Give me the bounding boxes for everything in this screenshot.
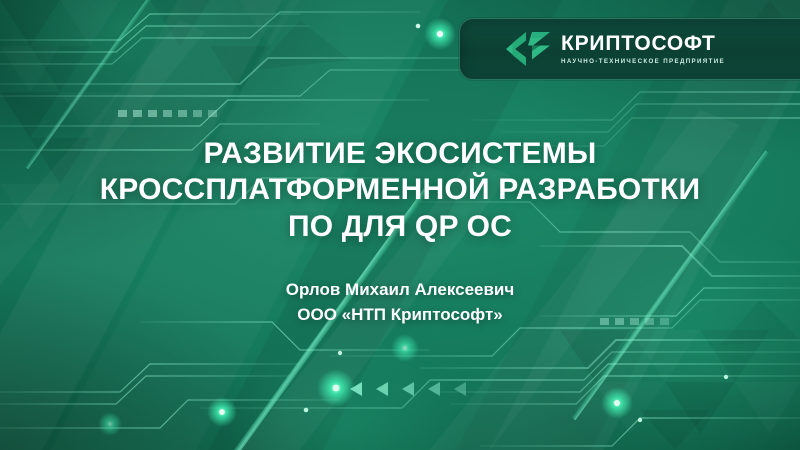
logo-tagline: НАУЧНО-ТЕХНИЧЕСКОЕ ПРЕДПРИЯТИЕ (561, 59, 725, 65)
logo-company-name: КРИПТОСОФТ (561, 33, 725, 54)
author-organization: ООО «НТП Криптософт» (40, 302, 760, 328)
logo-wordmark-group: КРИПТОСОФТ НАУЧНО-ТЕХНИЧЕСКОЕ ПРЕДПРИЯТИ… (561, 33, 725, 65)
author-byline: Орлов Михаил Алексеевич ООО «НТП Криптос… (40, 277, 760, 328)
company-logo-plate: КРИПТОСОФТ НАУЧНО-ТЕХНИЧЕСКОЕ ПРЕДПРИЯТИ… (459, 18, 800, 80)
author-name: Орлов Михаил Алексеевич (40, 277, 760, 303)
presentation-title-slide: КРИПТОСОФТ НАУЧНО-ТЕХНИЧЕСКОЕ ПРЕДПРИЯТИ… (0, 0, 800, 450)
kriptosoft-chevron-logo-icon (506, 32, 550, 66)
title-line-2: КРОССПЛАТФОРМЕННОЙ РАЗРАБОТКИ (40, 172, 760, 208)
slide-content: РАЗВИТИЕ ЭКОСИСТЕМЫ КРОССПЛАТФОРМЕННОЙ Р… (0, 136, 800, 328)
left-arrow-marker-icon (350, 382, 466, 396)
page-title: РАЗВИТИЕ ЭКОСИСТЕМЫ КРОССПЛАТФОРМЕННОЙ Р… (40, 136, 760, 245)
title-line-1: РАЗВИТИЕ ЭКОСИСТЕМЫ (40, 136, 760, 172)
title-line-3: ПО ДЛЯ QP ОС (40, 209, 760, 245)
